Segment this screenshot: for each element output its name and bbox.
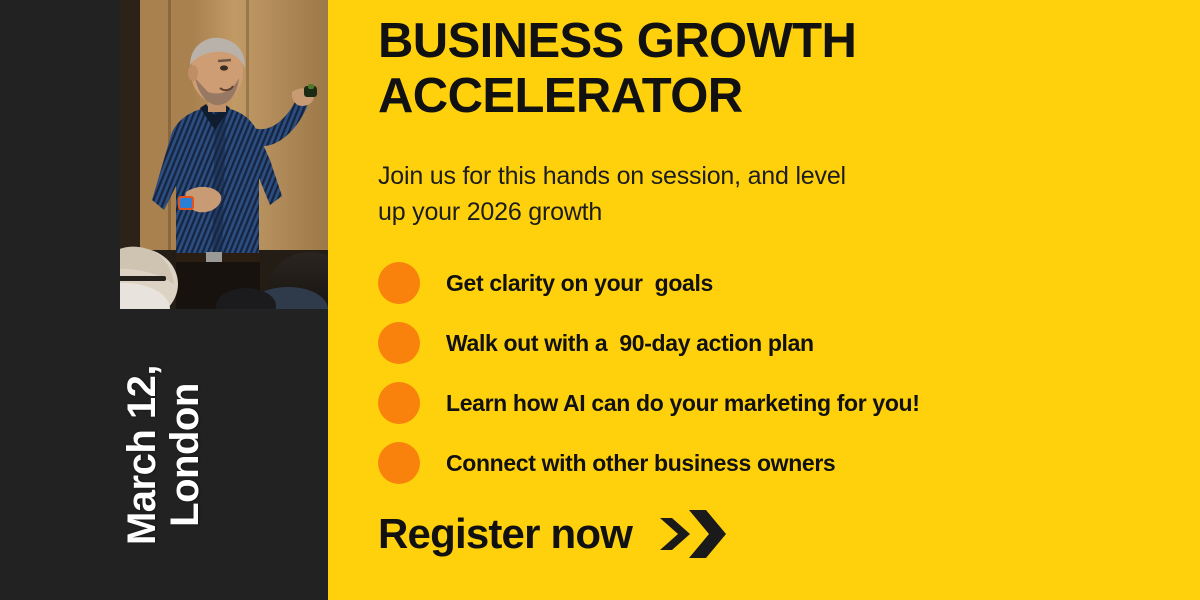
list-item: Learn how AI can do your marketing for y… xyxy=(378,373,1168,433)
list-item: Connect with other business owners xyxy=(378,433,1168,493)
event-location: London xyxy=(164,365,207,545)
bullet-dot-icon xyxy=(378,322,420,364)
register-now-button[interactable]: Register now xyxy=(378,506,728,562)
list-item: Walk out with a 90-day action plan xyxy=(378,313,1168,373)
headline-line-2: ACCELERATOR xyxy=(378,69,1178,124)
list-item-label: Connect with other business owners xyxy=(446,450,835,477)
event-date-location-block: March 12, London xyxy=(0,310,328,600)
bullet-dot-icon xyxy=(378,262,420,304)
headline-line-1: BUSINESS GROWTH xyxy=(378,14,1178,69)
left-dark-panel: March 12, London xyxy=(0,0,328,600)
double-chevron-right-icon xyxy=(656,506,728,562)
speaker-photo xyxy=(120,0,328,309)
list-item-label: Learn how AI can do your marketing for y… xyxy=(446,390,920,417)
list-item-label: Get clarity on your goals xyxy=(446,270,713,297)
subheading: Join us for this hands on session, and l… xyxy=(378,158,998,230)
list-item-label: Walk out with a 90-day action plan xyxy=(446,330,814,357)
bullet-dot-icon xyxy=(378,442,420,484)
register-now-label: Register now xyxy=(378,513,632,555)
event-date-location-rotated: March 12, London xyxy=(121,365,207,545)
list-item: Get clarity on your goals xyxy=(378,253,1168,313)
benefits-list: Get clarity on your goals Walk out with … xyxy=(378,253,1168,493)
right-yellow-panel: BUSINESS GROWTH ACCELERATOR Join us for … xyxy=(328,0,1200,600)
page-title: BUSINESS GROWTH ACCELERATOR xyxy=(378,14,1178,124)
event-date: March 12, xyxy=(121,365,164,545)
bullet-dot-icon xyxy=(378,382,420,424)
subheading-line-2: up your 2026 growth xyxy=(378,194,998,230)
event-promo-banner: March 12, London BUSINESS GROWTH ACCELER… xyxy=(0,0,1200,600)
subheading-line-1: Join us for this hands on session, and l… xyxy=(378,158,998,194)
